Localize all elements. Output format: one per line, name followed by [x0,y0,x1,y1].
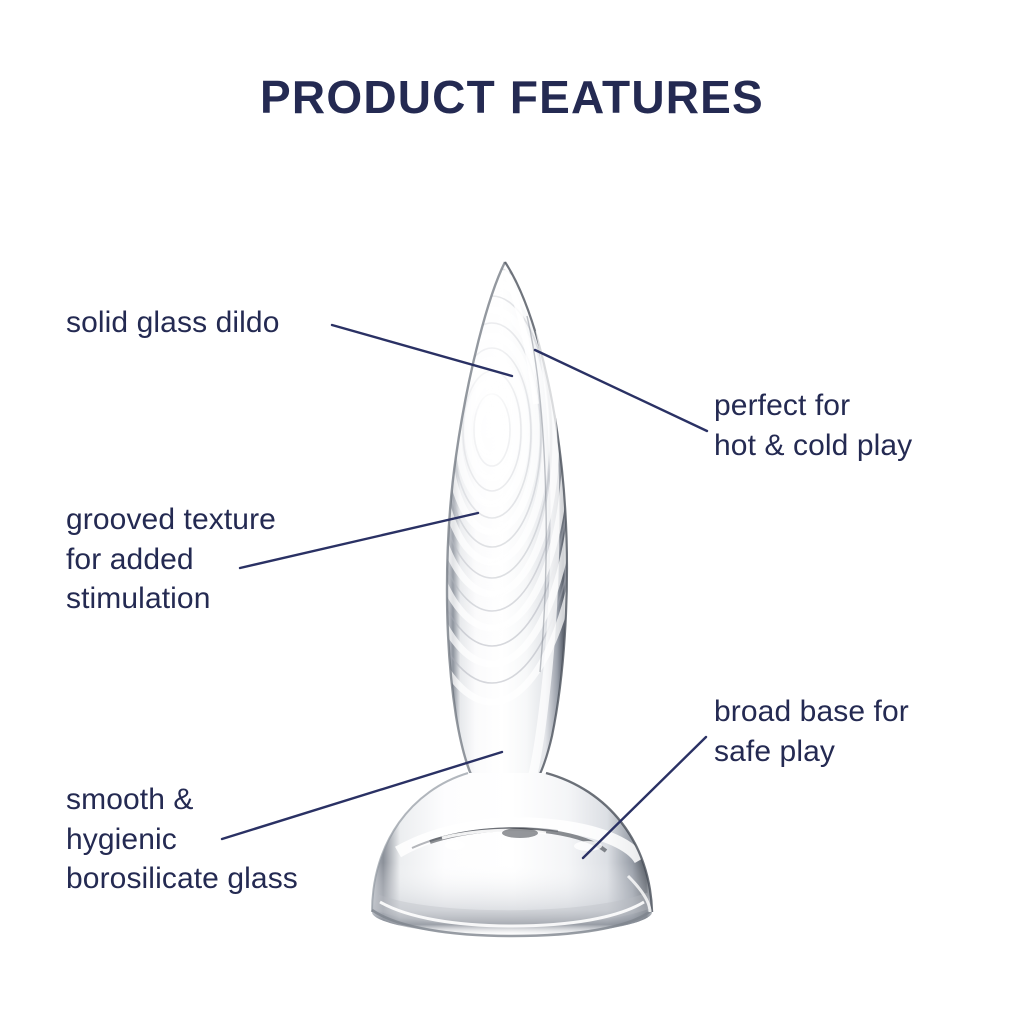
callout-broad-base: broad base for safe play [714,692,909,771]
callout-grooved-texture: grooved texture for added stimulation [66,500,276,619]
product-shaft [398,186,586,788]
callout-solid-glass: solid glass dildo [66,303,280,343]
callout-smooth-hygienic: smooth & hygienic borosilicate glass [66,780,298,899]
leader-line-hot-cold-play [535,350,707,431]
leader-line-broad-base [583,737,706,858]
callout-hot-cold-play: perfect for hot & cold play [714,386,912,465]
product-base [372,773,652,936]
infographic-canvas: PRODUCT FEATURES [0,0,1024,1024]
